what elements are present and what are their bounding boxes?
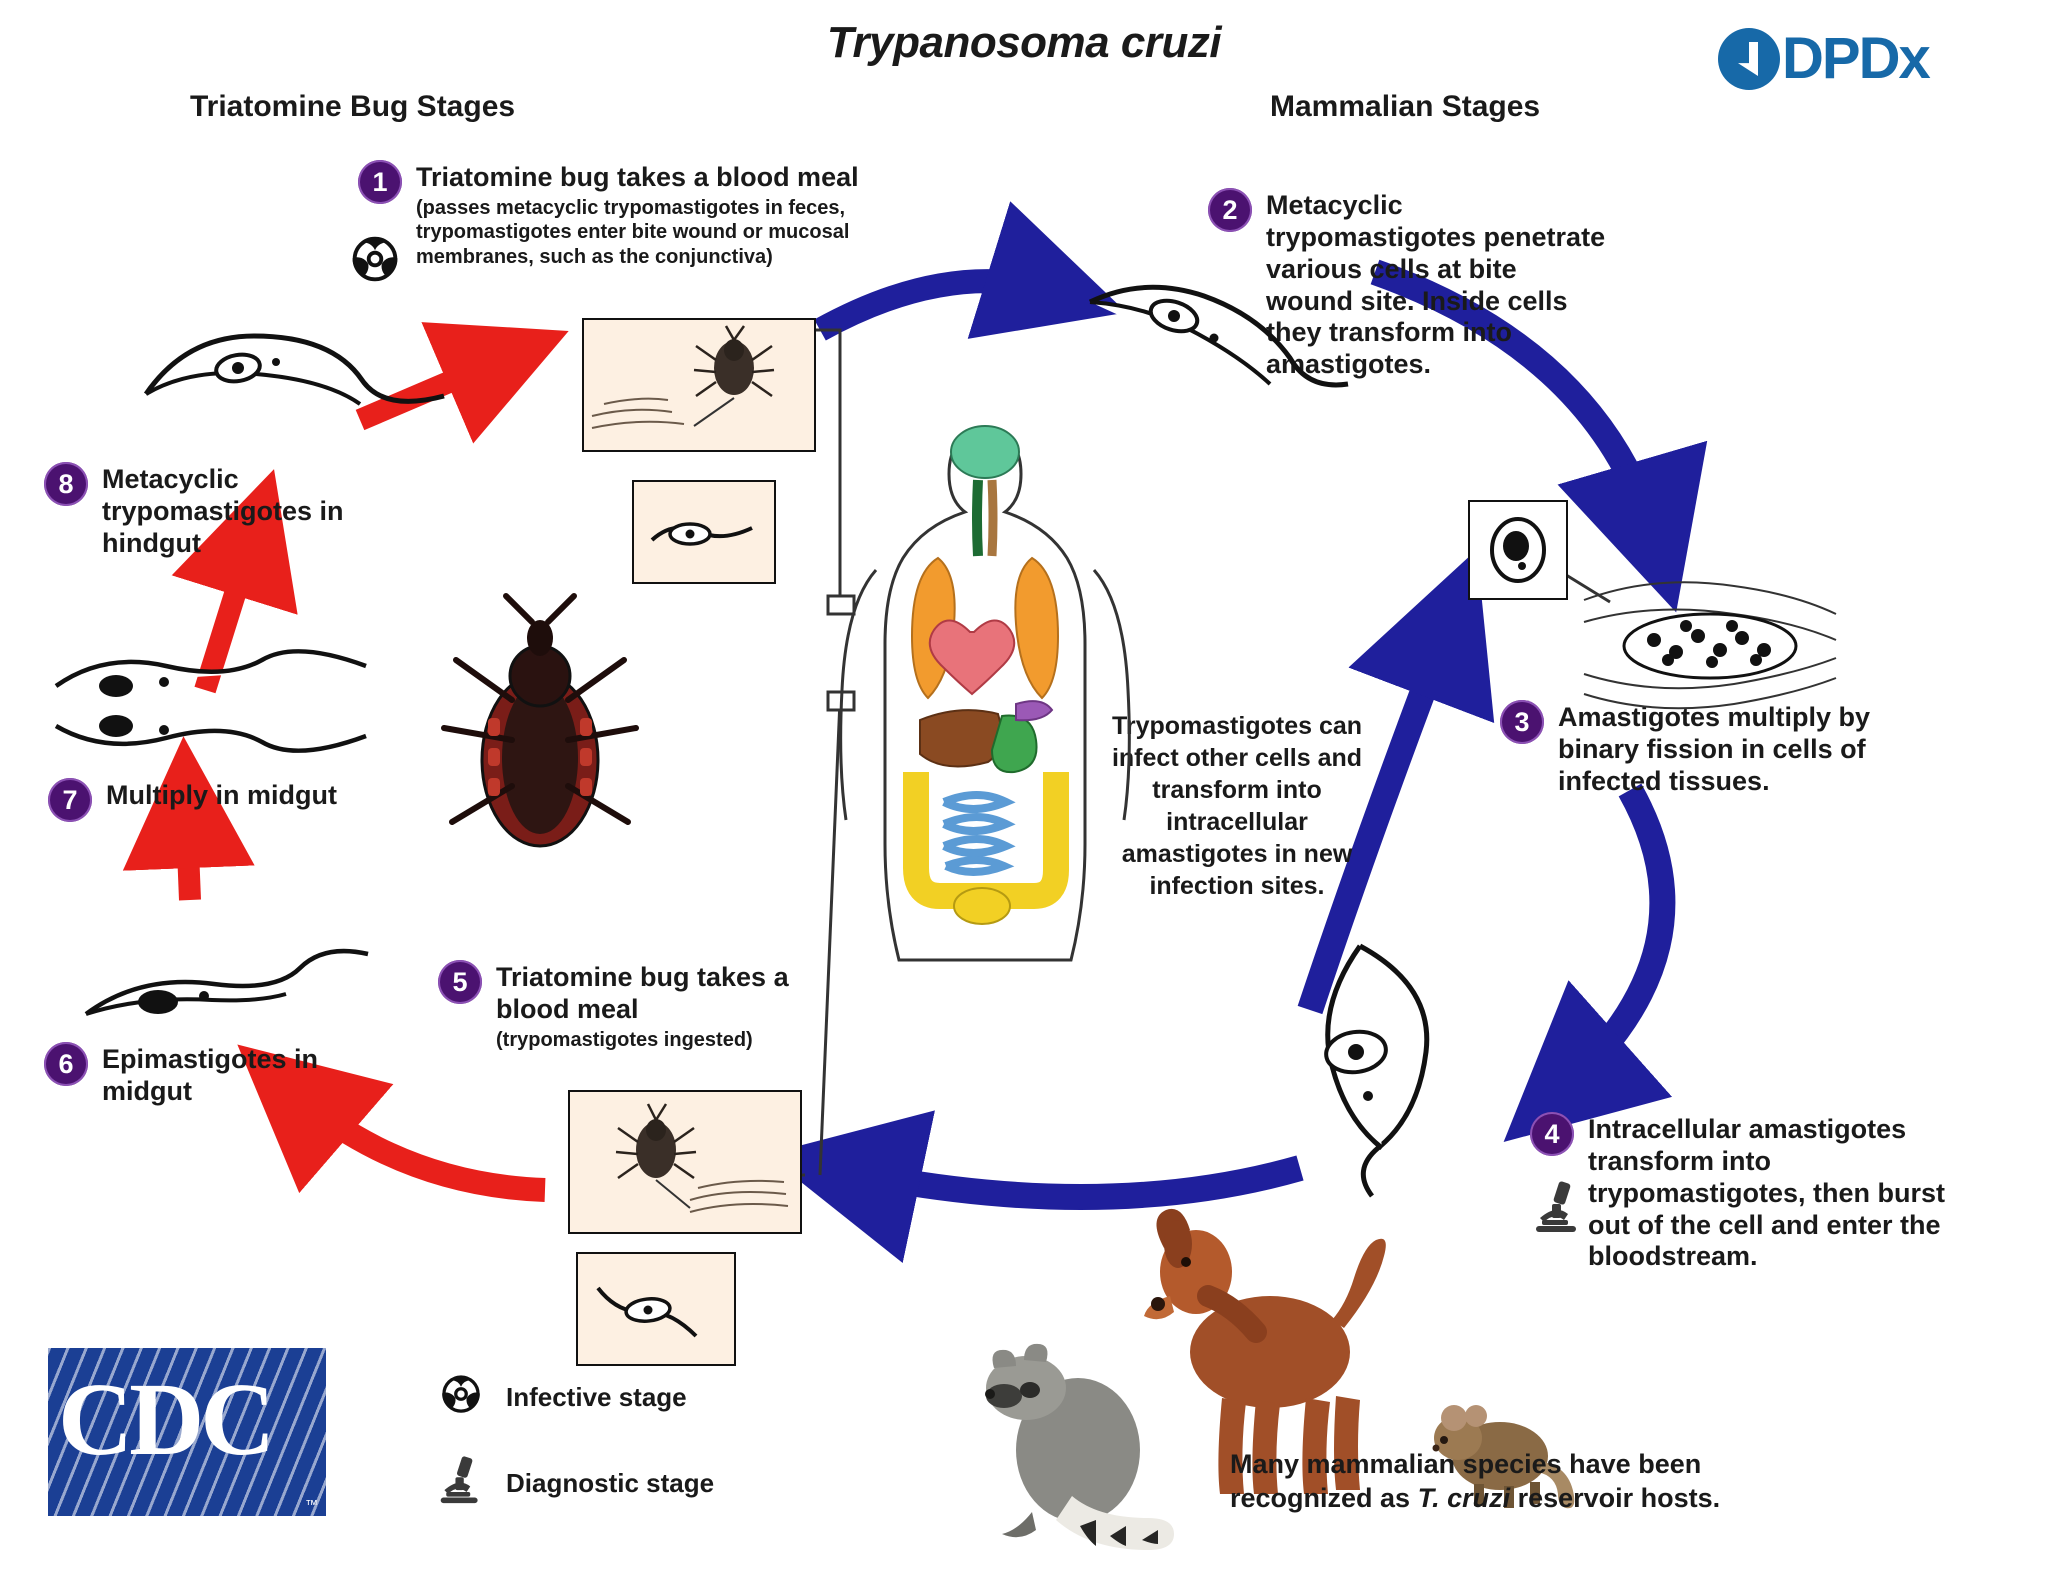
step-4: 4 Intracellular amastigotes transform in… bbox=[1530, 1112, 1950, 1273]
step-1: 1 Triatomine bug takes a blood meal (pas… bbox=[358, 160, 868, 269]
hosts-caption-species: T. cruzi bbox=[1418, 1483, 1511, 1513]
metacyclic-trypomastigote-drawing bbox=[130, 310, 460, 440]
amastigote-drawing bbox=[1470, 502, 1566, 598]
biohazard-icon bbox=[344, 228, 406, 290]
hosts-caption-line-1: Many mammalian species have been bbox=[1230, 1448, 1730, 1482]
legend-label-diagnostic: Diagnostic stage bbox=[506, 1468, 714, 1499]
microscope-icon bbox=[430, 1453, 492, 1514]
step-8-number: 8 bbox=[44, 462, 88, 506]
legend-row-diagnostic: Diagnostic stage bbox=[430, 1453, 714, 1514]
life-cycle-diagram: Trypanosoma cruzi Triatomine Bug Stages … bbox=[0, 0, 2048, 1572]
bloodstream-trypomastigote-drawing bbox=[1270, 930, 1530, 1210]
biohazard-icon bbox=[430, 1368, 492, 1427]
inset-trypomastigote-bottom bbox=[576, 1252, 736, 1366]
legend: Infective stage Diagnostic stage bbox=[430, 1368, 714, 1540]
bug-on-skin-drawing-2 bbox=[570, 1092, 800, 1232]
step-2-number: 2 bbox=[1208, 188, 1252, 232]
amastigote-nest-in-tissue-drawing bbox=[1580, 560, 1840, 720]
bug-on-skin-drawing bbox=[584, 320, 814, 450]
step-1-number: 1 bbox=[358, 160, 402, 204]
step-8-title: Metacyclic trypomastigotes in hindgut bbox=[102, 464, 414, 560]
inset-trypomastigote-top bbox=[632, 480, 776, 584]
epimastigote-drawing bbox=[72, 930, 382, 1060]
cdc-wordmark: CDC bbox=[58, 1360, 271, 1479]
trypomastigote-drawing bbox=[634, 482, 774, 582]
dpdx-mark-icon bbox=[1718, 28, 1780, 90]
step-4-number: 4 bbox=[1530, 1112, 1574, 1156]
step-5: 5 Triatomine bug takes a blood meal (try… bbox=[438, 960, 798, 1052]
step-1-subtitle: (passes metacyclic trypomastigotes in fe… bbox=[416, 196, 868, 269]
heading-mammalian-stages: Mammalian Stages bbox=[1270, 90, 1540, 124]
inset-bug-biting-top bbox=[582, 318, 816, 452]
microscope-icon bbox=[1532, 1178, 1584, 1236]
step-5-title: Triatomine bug takes a blood meal bbox=[496, 962, 798, 1026]
human-body-anatomy-illustration bbox=[820, 420, 1150, 980]
dpdx-logo: DPDx bbox=[1718, 28, 1929, 90]
step-5-subtitle: (trypomastigotes ingested) bbox=[496, 1028, 798, 1052]
hosts-caption-line-2: recognized as T. cruzi reservoir hosts. bbox=[1230, 1482, 1730, 1516]
inset-amastigote-in-cell bbox=[1468, 500, 1568, 600]
step-5-number: 5 bbox=[438, 960, 482, 1004]
step-8: 8 Metacyclic trypomastigotes in hindgut bbox=[44, 462, 414, 560]
heading-triatomine-bug-stages: Triatomine Bug Stages bbox=[190, 90, 515, 124]
metacyclic-trypomastigote-drawing-2 bbox=[1066, 258, 1366, 408]
legend-row-infective: Infective stage bbox=[430, 1368, 714, 1427]
step-4-title: Intracellular amastigotes transform into… bbox=[1588, 1114, 1950, 1273]
legend-label-infective: Infective stage bbox=[506, 1382, 687, 1413]
triatomine-bug-illustration bbox=[420, 590, 660, 870]
trypomastigote-drawing-2 bbox=[578, 1254, 734, 1364]
hosts-caption-post: reservoir hosts. bbox=[1510, 1483, 1720, 1513]
hosts-caption-pre: recognized as bbox=[1230, 1483, 1418, 1513]
step-3-number: 3 bbox=[1500, 700, 1544, 744]
cdc-logo: CDC ™ bbox=[48, 1348, 326, 1516]
step-1-title: Triatomine bug takes a blood meal bbox=[416, 162, 868, 194]
cdc-trademark: ™ bbox=[305, 1497, 318, 1512]
dpdx-wordmark: DPDx bbox=[1782, 30, 1929, 88]
mammalian-hosts-caption: Many mammalian species have been recogni… bbox=[1230, 1448, 1730, 1516]
dividing-epimastigotes-drawing bbox=[46, 630, 376, 790]
inset-bug-biting-bottom bbox=[568, 1090, 802, 1234]
